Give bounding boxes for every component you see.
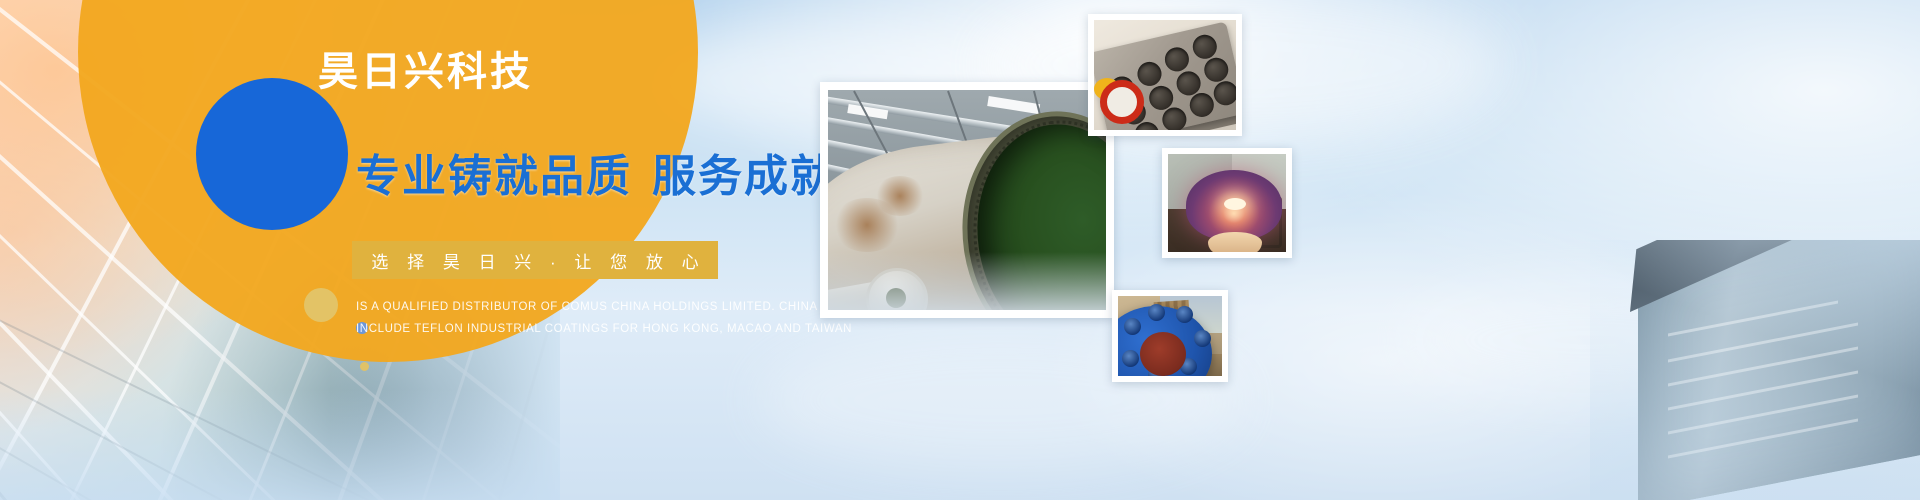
flange-bolt-hole bbox=[1176, 306, 1193, 323]
small-yellow-dot-decor bbox=[360, 362, 369, 371]
factory-floor bbox=[828, 252, 1106, 310]
tagline-text: 选 择 昊 日 兴 · 让 您 放 心 bbox=[364, 248, 705, 273]
red-silicone-ring bbox=[1100, 80, 1144, 124]
photo-bakeware-tray bbox=[1088, 14, 1242, 136]
blue-circle-decor bbox=[196, 78, 348, 230]
lamp-filament-glow bbox=[1224, 198, 1246, 210]
tagline-banner[interactable]: 选 择 昊 日 兴 · 让 您 放 心 bbox=[352, 241, 718, 279]
flange-bolt-hole bbox=[1148, 304, 1165, 321]
flange-bolt-hole bbox=[1122, 350, 1139, 367]
hand-holding-lamp bbox=[1208, 232, 1262, 252]
rust-patch bbox=[874, 176, 926, 216]
photo-tank-coating-image bbox=[828, 90, 1106, 310]
photo-heat-lamp bbox=[1162, 148, 1292, 258]
building-bottom-fade bbox=[0, 390, 560, 500]
disclaimer-line-1: IS A QUALIFIED DISTRIBUTOR OF COMUS CHIN… bbox=[356, 296, 836, 318]
brand-name: 昊日兴科技 bbox=[318, 52, 533, 92]
tray-cup bbox=[1211, 79, 1236, 108]
headline-part-1: 专业铸就品质 bbox=[356, 152, 632, 201]
disclaimer-line-2: INCLUDE TEFLON INDUSTRIAL COATINGS FOR H… bbox=[356, 318, 836, 340]
photo-bakeware-tray-image bbox=[1094, 20, 1236, 130]
photo-tank-coating bbox=[820, 82, 1114, 318]
photo-blue-flange-image bbox=[1118, 296, 1222, 376]
flange-center-hub bbox=[1140, 332, 1186, 376]
disclaimer-text: IS A QUALIFIED DISTRIBUTOR OF COMUS CHIN… bbox=[356, 296, 836, 340]
photo-blue-flange bbox=[1112, 290, 1228, 382]
photo-heat-lamp-image bbox=[1168, 154, 1286, 252]
skyscraper-fade bbox=[1590, 240, 1920, 500]
yellow-dot-decor bbox=[304, 288, 338, 322]
tray-cup bbox=[1163, 45, 1192, 74]
promo-banner: 昊日兴科技 专业铸就品质服务成就辉煌 选 择 昊 日 兴 · 让 您 放 心 I… bbox=[0, 0, 1920, 500]
tray-cup bbox=[1135, 60, 1164, 89]
flange-bolt-hole bbox=[1194, 330, 1211, 347]
flange-bolt-hole bbox=[1124, 318, 1141, 335]
right-skyscraper bbox=[1590, 240, 1920, 500]
roof-skylight bbox=[987, 96, 1040, 114]
tray-cup bbox=[1202, 55, 1231, 84]
